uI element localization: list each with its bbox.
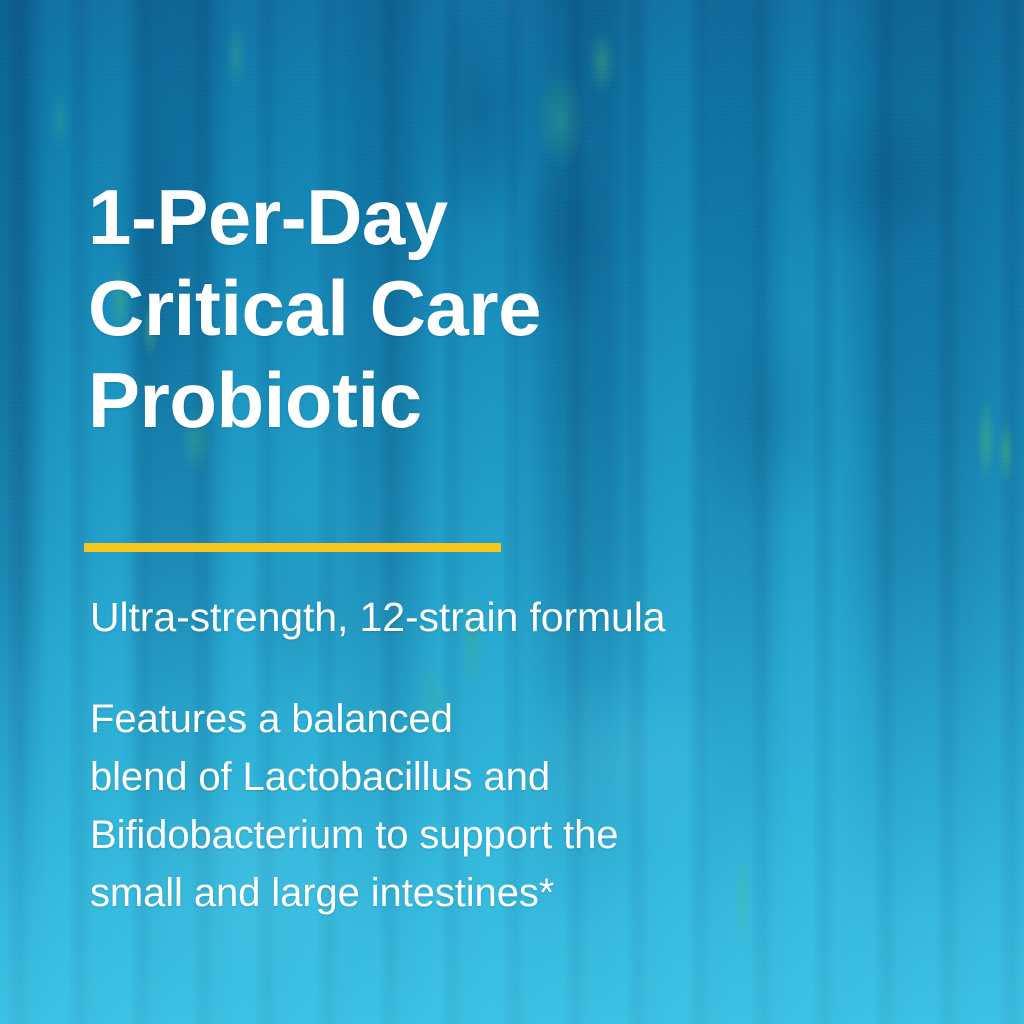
body-line-1: Features a balanced: [90, 690, 850, 748]
product-marketing-card: 1-Per-Day Critical Care Probiotic Ultra-…: [0, 0, 1024, 1024]
accent-divider: [84, 543, 501, 552]
body-line-2: blend of Lactobacillus and: [90, 748, 850, 806]
page-title: 1-Per-Day Critical Care Probiotic: [88, 172, 948, 446]
content-layer: 1-Per-Day Critical Care Probiotic Ultra-…: [0, 0, 1024, 1024]
body-description: Features a balanced blend of Lactobacill…: [90, 690, 850, 922]
headline-line-2: Critical Care: [88, 263, 948, 354]
body-line-3: Bifidobacterium to support the: [90, 806, 850, 864]
subheadline: Ultra-strength, 12-strain formula: [90, 592, 970, 643]
headline-line-3: Probiotic: [88, 355, 948, 446]
body-line-4: small and large intestines*: [90, 864, 850, 922]
headline-line-1: 1-Per-Day: [88, 172, 948, 263]
